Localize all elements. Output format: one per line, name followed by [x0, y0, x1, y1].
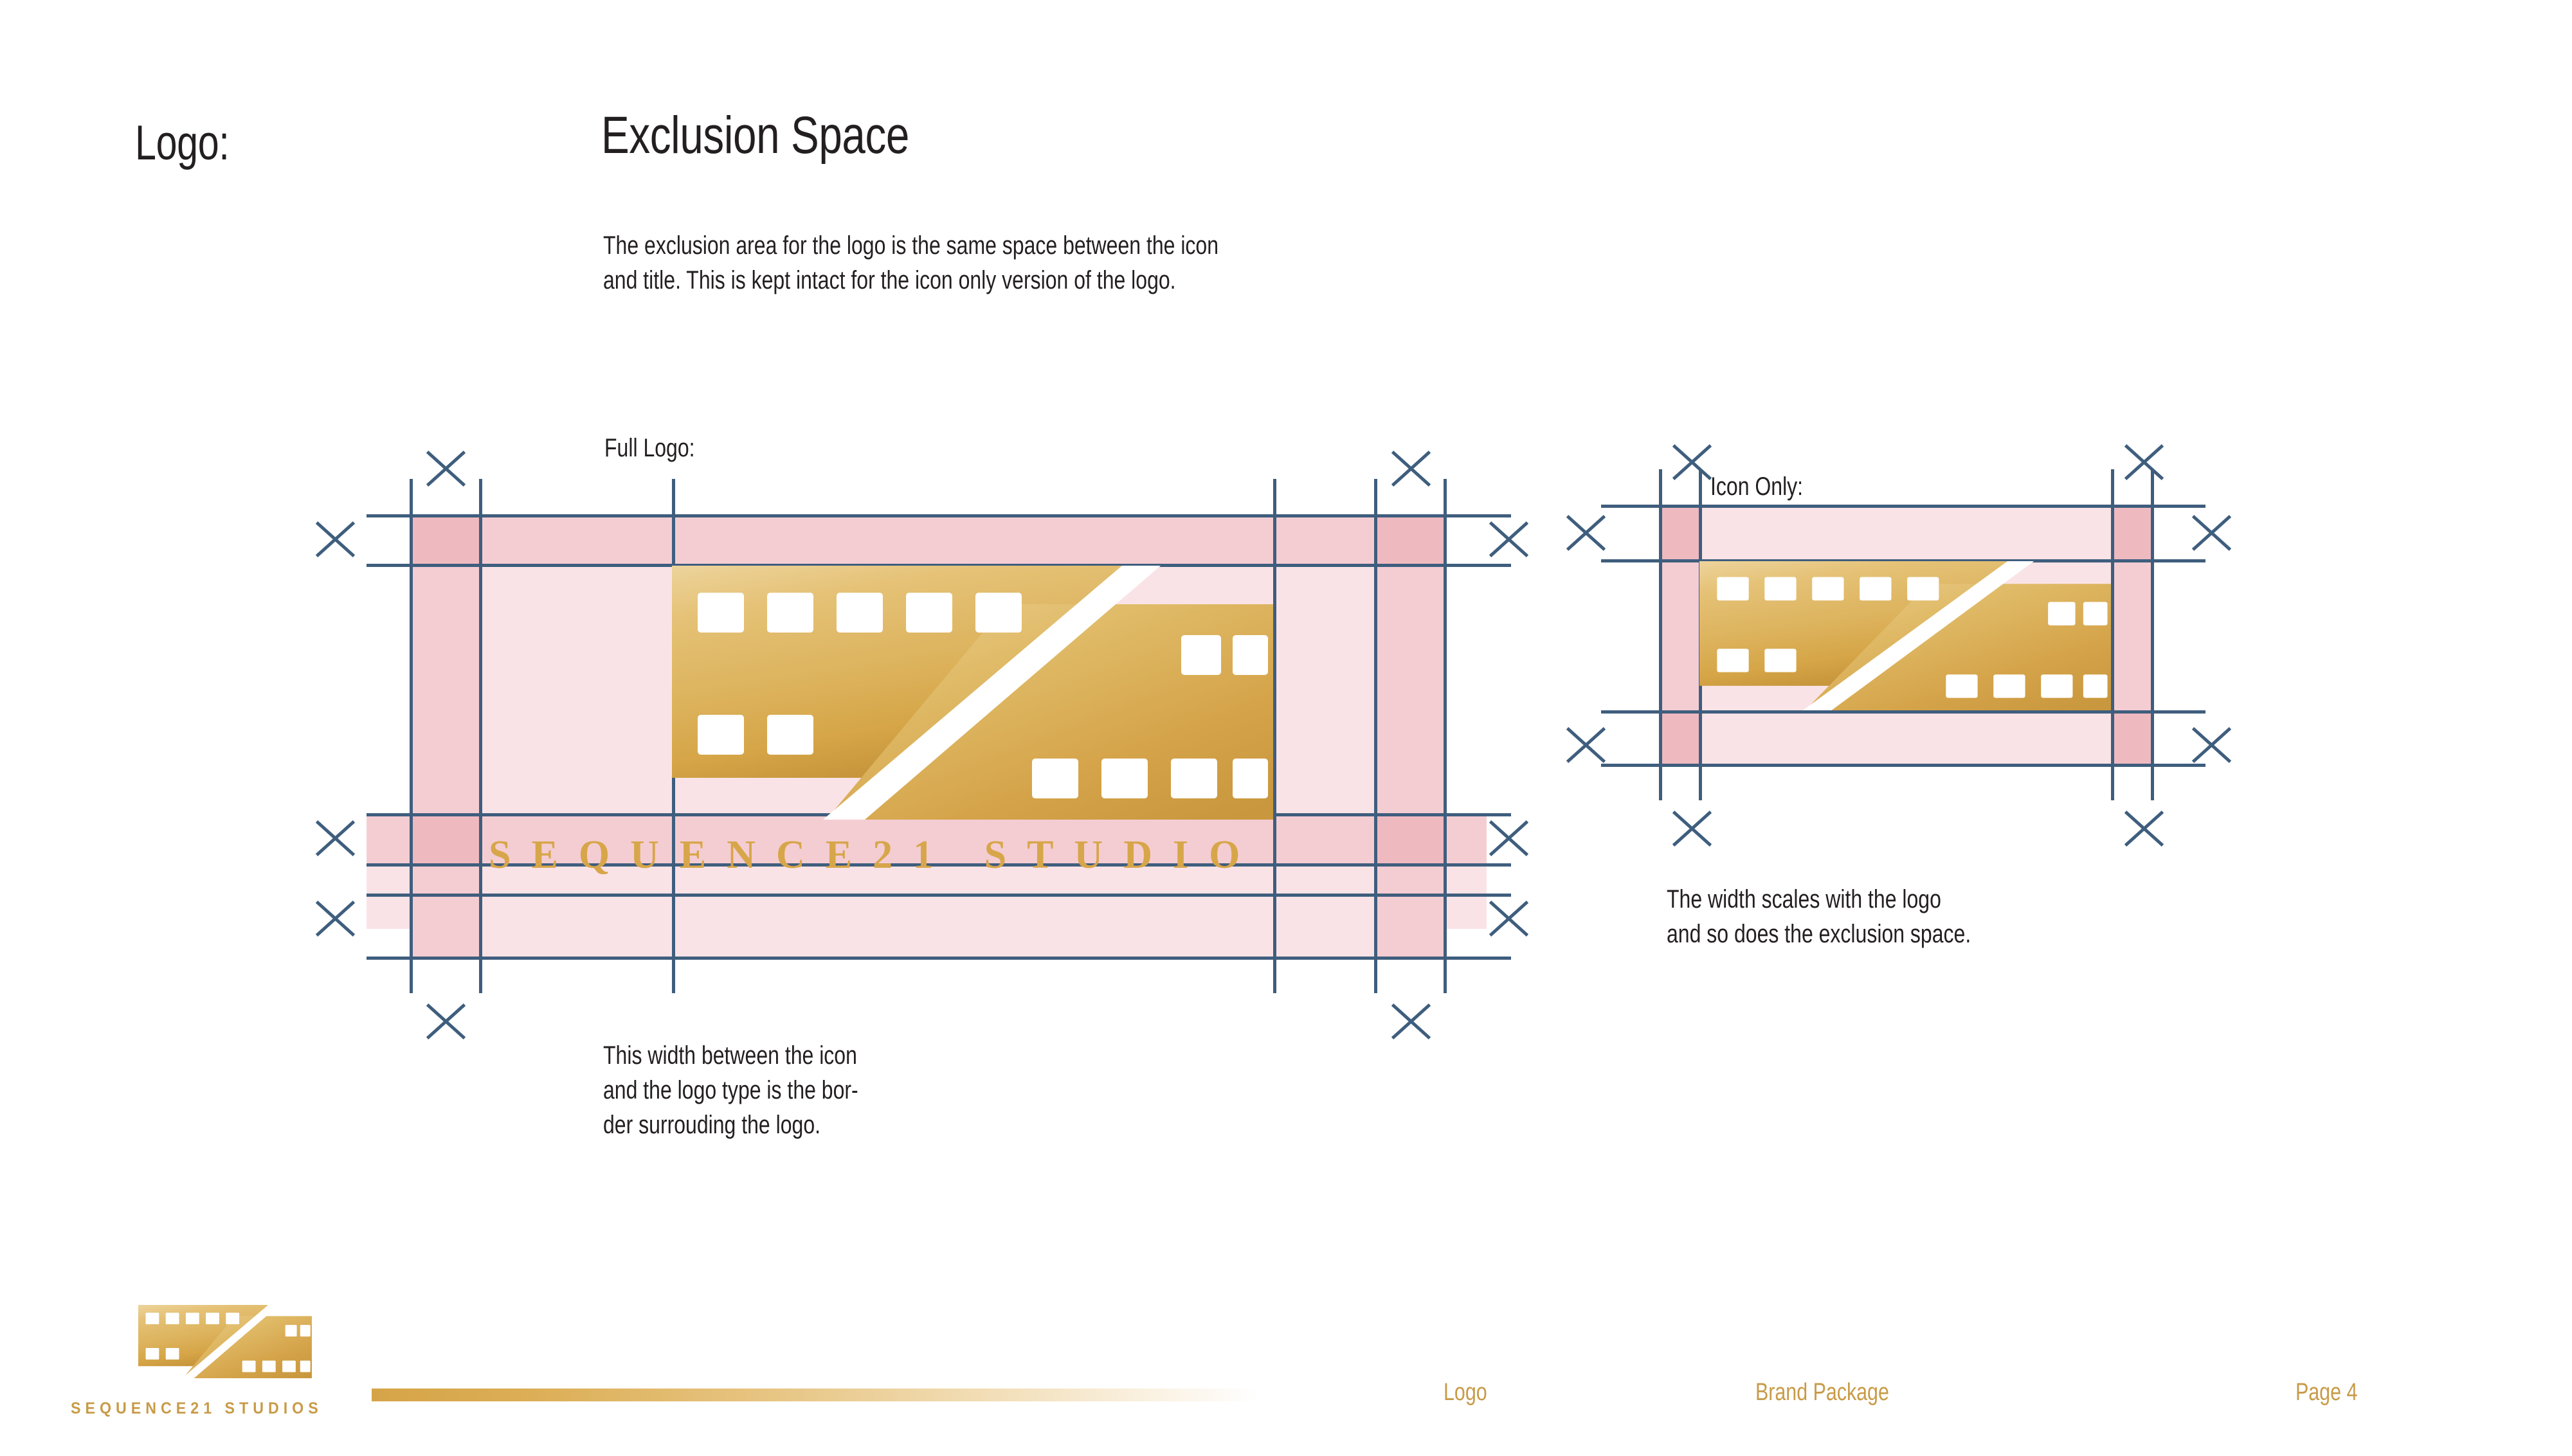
page-title: Logo:: [135, 119, 229, 168]
crop-mark-x-left-3: [309, 894, 359, 944]
icon-crop-mark-x-bottom-right: [2117, 804, 2168, 854]
icon-only-caption: The width scales with the logo and so do…: [1667, 882, 1971, 951]
icon-only-caption-line-2: and so does the exclusion space.: [1667, 917, 1971, 951]
exclusion-band-top: [410, 514, 1444, 566]
exclusion-band-bottom-left: [410, 894, 479, 958]
icon-exclusion-overlap-bottom-left: [1659, 710, 1699, 765]
footer-wordmark: SEQUENCE21 STUDIOS: [71, 1399, 323, 1418]
full-logo-label: Full Logo:: [604, 434, 695, 463]
guide-line-v6: [1444, 479, 1447, 993]
icon-exclusion-overlap-top-right: [2111, 505, 2151, 561]
exclusion-overlap-mid-left: [410, 813, 479, 865]
section-title: Exclusion Space: [601, 109, 909, 162]
full-logo-caption-line-3: der surrouding the logo.: [603, 1108, 858, 1142]
icon-crop-mark-x-right-1: [2185, 508, 2235, 558]
crop-mark-x-bottom-left: [419, 996, 469, 1047]
icon-guide-line-h4: [1601, 764, 2205, 767]
crop-mark-x-right-2: [1482, 813, 1532, 863]
brand-guidelines-page: Logo: Exclusion Space The exclusion area…: [0, 0, 2572, 1456]
full-logo-caption: This width between the icon and the logo…: [603, 1038, 858, 1142]
icon-guide-line-h3: [1601, 710, 2205, 714]
logo-wordmark: SEQUENCE21 STUDIO: [489, 832, 1260, 878]
icon-exclusion-overlap-bottom-right: [2111, 710, 2151, 765]
footer-logo-icon: [138, 1305, 312, 1389]
film-strip-icon-small: [1699, 561, 2111, 710]
icon-only-label: Icon Only:: [1710, 472, 1803, 501]
crop-mark-x-right-1: [1482, 514, 1532, 564]
exclusion-band-left: [410, 514, 479, 958]
footer-page-label: Page 4: [2296, 1379, 2357, 1407]
film-strip-icon: [672, 566, 1273, 820]
guide-line-v2: [479, 479, 482, 993]
icon-guide-line-v4: [2151, 469, 2154, 800]
guide-line-h1: [367, 514, 1511, 517]
full-logo-caption-line-2: and the logo type is the bor-: [603, 1073, 858, 1108]
exclusion-overlap-top-left: [410, 514, 479, 566]
icon-only-caption-line-1: The width scales with the logo: [1667, 882, 1971, 917]
icon-exclusion-overlap-top-left: [1659, 505, 1699, 561]
icon-crop-mark-x-left-1: [1559, 508, 1609, 558]
icon-crop-mark-x-top-right: [2117, 437, 2168, 487]
icon-crop-mark-x-left-2: [1559, 720, 1609, 770]
crop-mark-x-bottom-right: [1384, 996, 1435, 1047]
intro-paragraph: The exclusion area for the logo is the s…: [603, 228, 1580, 298]
icon-guide-line-h1: [1601, 505, 2205, 508]
guide-line-v4: [1273, 479, 1276, 993]
guide-line-v5: [1374, 479, 1377, 993]
exclusion-band-bottom-right: [1374, 894, 1444, 958]
footer-logo-label[interactable]: Logo: [1444, 1379, 1487, 1407]
crop-mark-x-top-right: [1384, 444, 1435, 494]
crop-mark-x-left-2: [309, 813, 359, 863]
guide-line-v1: [410, 479, 413, 993]
icon-crop-mark-x-right-2: [2185, 720, 2235, 770]
footer-brand-label[interactable]: Brand Package: [1755, 1379, 1889, 1407]
exclusion-overlap-mid-right: [1374, 813, 1444, 865]
icon-crop-mark-x-bottom-left: [1665, 804, 1716, 854]
crop-mark-x-left-1: [309, 514, 359, 564]
guide-line-h6: [367, 957, 1511, 960]
intro-line-2: and title. This is kept intact for the i…: [603, 263, 1580, 298]
exclusion-band-right: [1374, 514, 1444, 958]
crop-mark-x-right-3: [1482, 894, 1532, 944]
guide-line-h5: [367, 894, 1511, 897]
intro-line-1: The exclusion area for the logo is the s…: [603, 228, 1580, 263]
icon-guide-line-v1: [1659, 469, 1662, 800]
icon-crop-mark-x-top-left: [1665, 437, 1716, 487]
crop-mark-x-top-left: [419, 444, 469, 494]
full-logo-caption-line-1: This width between the icon: [603, 1038, 858, 1073]
footer-gradient-rule: [372, 1389, 1259, 1401]
icon-guide-line-v3: [2111, 469, 2114, 800]
exclusion-overlap-top-right: [1374, 514, 1444, 566]
